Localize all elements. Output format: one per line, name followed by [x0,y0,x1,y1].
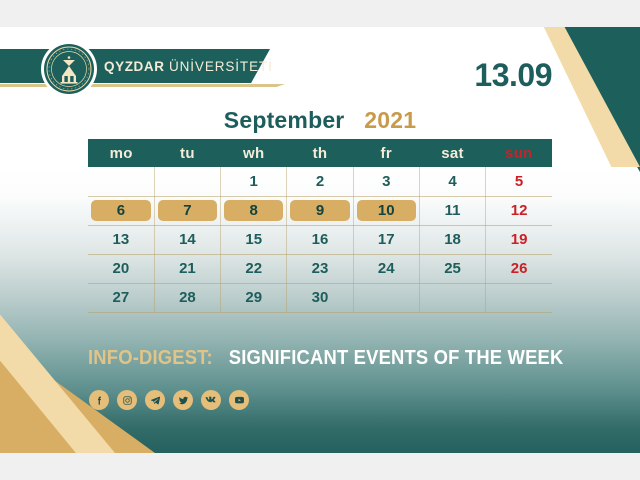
calendar-day-label: 2 [290,171,349,192]
calendar-weekday-fr: fr [353,139,419,167]
calendar-day-label: 18 [423,229,482,250]
calendar-week-row: 20212223242526 [88,254,552,283]
calendar-day-30[interactable]: 30 [287,283,353,312]
calendar-day-2[interactable]: 2 [287,167,353,196]
calendar-day-empty [88,167,154,196]
calendar-weekday-mo: mo [88,139,154,167]
vk-icon[interactable] [201,390,221,410]
calendar-day-label: 5 [489,171,549,192]
calendar-day-label: 30 [290,287,349,308]
telegram-icon[interactable] [145,390,165,410]
calendar-day-23[interactable]: 23 [287,254,353,283]
calendar-day-28[interactable]: 28 [154,283,220,312]
calendar-day-8[interactable]: 8 [221,196,287,225]
calendar-day-label: 3 [357,171,416,192]
calendar-day-15[interactable]: 15 [221,225,287,254]
brand-name-light: ÜNİVERSİTETİ [169,59,273,74]
calendar-day-label: 19 [489,229,549,250]
calendar-weekday-row: motuwhthfrsatsun [88,139,552,167]
calendar-title: September 2021 [0,107,640,134]
calendar-day-empty [419,283,485,312]
calendar-day-6[interactable]: 6 [88,196,154,225]
calendar-day-21[interactable]: 21 [154,254,220,283]
calendar-day-label: 9 [290,200,349,221]
calendar-day-empty [154,167,220,196]
calendar-day-18[interactable]: 18 [419,225,485,254]
poster-date: 13.09 [474,57,552,94]
calendar-day-26[interactable]: 26 [486,254,552,283]
digest-label: INFO-DIGEST: [88,347,213,369]
calendar-day-label: 15 [224,229,283,250]
calendar-day-12[interactable]: 12 [486,196,552,225]
calendar-week-row: 6789101112 [88,196,552,225]
calendar-day-label: 21 [158,258,217,279]
calendar-day-1[interactable]: 1 [221,167,287,196]
calendar-day-label: 11 [423,200,482,221]
calendar-day-label: 25 [423,258,482,279]
calendar-week-row: 27282930 [88,283,552,312]
calendar-day-29[interactable]: 29 [221,283,287,312]
youtube-icon[interactable] [229,390,249,410]
calendar-day-label: 27 [91,287,151,308]
calendar-day-label: 20 [91,258,151,279]
twitter-icon[interactable] [173,390,193,410]
calendar-day-label: 7 [158,200,217,221]
calendar-day-22[interactable]: 22 [221,254,287,283]
calendar-day-label: 28 [158,287,217,308]
calendar-day-label: 26 [489,258,549,279]
calendar-day-label: 23 [290,258,349,279]
calendar-day-13[interactable]: 13 [88,225,154,254]
calendar-day-label: 10 [357,200,416,221]
calendar-day-27[interactable]: 27 [88,283,154,312]
calendar-day-label: 14 [158,229,217,250]
calendar-day-25[interactable]: 25 [419,254,485,283]
instagram-icon[interactable] [117,390,137,410]
calendar-day-10[interactable]: 10 [353,196,419,225]
calendar-day-label: 29 [224,287,283,308]
poster-canvas: QYZDAR ÜNİVERSİTETİ 13.09 [0,27,640,453]
calendar-week-row: 12345 [88,167,552,196]
calendar-day-label: 16 [290,229,349,250]
calendar-weekday-sat: sat [419,139,485,167]
calendar-weekday-wh: wh [221,139,287,167]
calendar-day-20[interactable]: 20 [88,254,154,283]
calendar-day-label: 22 [224,258,283,279]
brand-name: QYZDAR ÜNİVERSİTETİ [104,49,273,83]
calendar-day-19[interactable]: 19 [486,225,552,254]
calendar-day-14[interactable]: 14 [154,225,220,254]
digest-headline: INFO-DIGEST: SIGNIFICANT EVENTS OF THE W… [88,347,563,370]
calendar-day-5[interactable]: 5 [486,167,552,196]
calendar-day-empty [486,283,552,312]
digest-text: SIGNIFICANT EVENTS OF THE WEEK [229,347,564,369]
calendar-day-label: 8 [224,200,283,221]
calendar-day-9[interactable]: 9 [287,196,353,225]
calendar-weekday-tu: tu [154,139,220,167]
calendar-day-label: 13 [91,229,151,250]
calendar-day-3[interactable]: 3 [353,167,419,196]
calendar-day-17[interactable]: 17 [353,225,419,254]
calendar-day-16[interactable]: 16 [287,225,353,254]
calendar-day-label: 12 [489,200,549,221]
calendar-week-row: 13141516171819 [88,225,552,254]
calendar-day-7[interactable]: 7 [154,196,220,225]
brand-name-strong: QYZDAR [104,59,165,74]
letterbox-frame: QYZDAR ÜNİVERSİTETİ 13.09 [0,0,640,480]
university-seal-icon [41,41,97,97]
calendar-day-label: 17 [357,229,416,250]
calendar-day-label: 1 [224,171,283,192]
social-links [89,390,249,410]
calendar-day-label: 4 [423,171,482,192]
calendar-grid: motuwhthfrsatsun 12345678910111213141516… [88,139,552,313]
calendar-day-label: 6 [91,200,151,221]
calendar-day-empty [353,283,419,312]
calendar-weekday-sun: sun [486,139,552,167]
calendar-weekday-th: th [287,139,353,167]
calendar-day-4[interactable]: 4 [419,167,485,196]
calendar-year: 2021 [364,107,416,133]
facebook-icon[interactable] [89,390,109,410]
calendar-day-label: 24 [357,258,416,279]
calendar-day-11[interactable]: 11 [419,196,485,225]
calendar-month: September [224,107,345,133]
calendar-day-24[interactable]: 24 [353,254,419,283]
